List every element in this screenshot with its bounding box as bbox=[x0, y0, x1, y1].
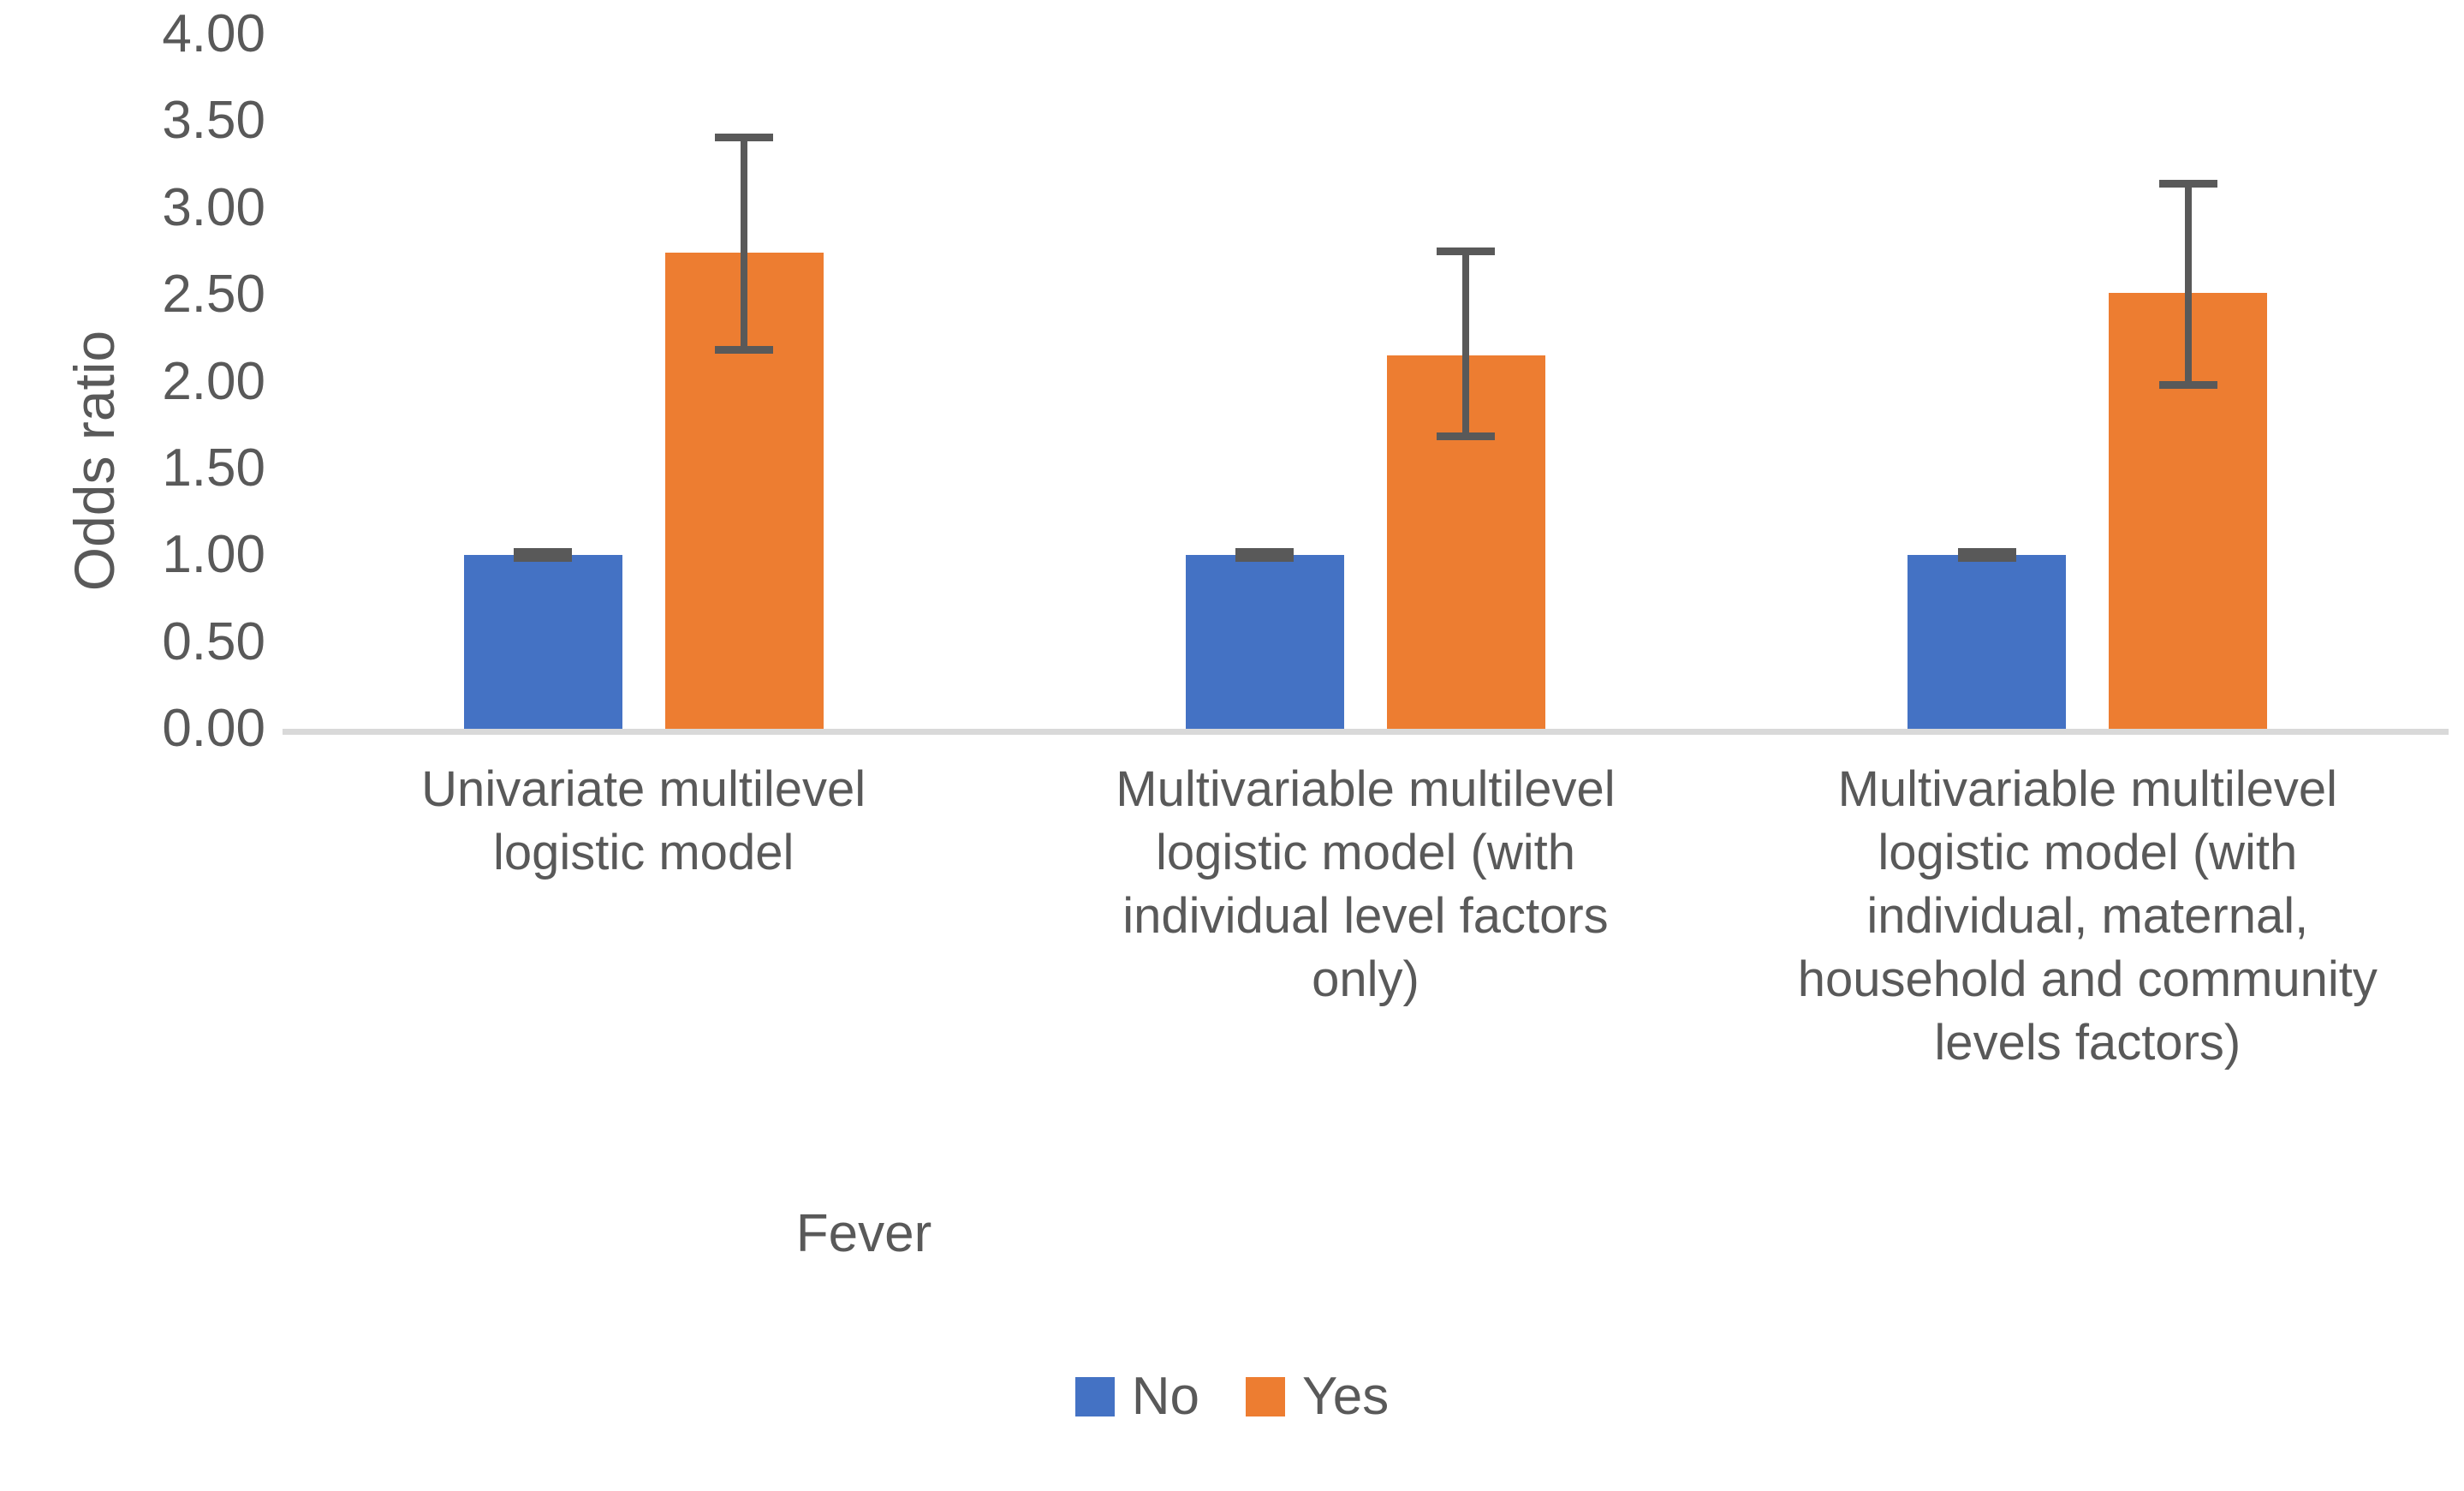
y-axis-tick-label: 1.50 bbox=[0, 442, 265, 495]
category-label-line: logistic model (with bbox=[1004, 821, 1726, 885]
category-label-line: levels factors) bbox=[1727, 1011, 2449, 1075]
category-label-line: individual level factors bbox=[1004, 885, 1726, 948]
bar-no bbox=[1186, 555, 1344, 729]
error-bar-cap-lower bbox=[1958, 554, 2016, 562]
legend-item[interactable]: No bbox=[1075, 1370, 1199, 1423]
plot-area bbox=[283, 34, 2449, 729]
x-axis-category-label: Multivariable multilevellogistic model (… bbox=[1727, 758, 2449, 1075]
category-label-line: individual, maternal, bbox=[1727, 885, 2449, 948]
error-bar-cap-upper bbox=[2159, 180, 2217, 188]
x-axis-category-label: Multivariable multilevellogistic model (… bbox=[1004, 758, 1726, 1011]
bar-group bbox=[283, 34, 1004, 729]
y-axis-tick-label: 0.50 bbox=[0, 616, 265, 669]
x-axis-line bbox=[283, 729, 2449, 735]
error-bar-cap-lower bbox=[715, 346, 773, 354]
y-axis-tick-label: 2.50 bbox=[0, 268, 265, 321]
y-axis-tick-label: 1.00 bbox=[0, 528, 265, 581]
y-axis-tick-label: 4.00 bbox=[0, 8, 265, 61]
y-axis-tick-label: 3.00 bbox=[0, 182, 265, 235]
bar-no bbox=[464, 555, 622, 729]
bar-chart: Odds ratio 4.003.503.002.502.001.501.000… bbox=[0, 0, 2464, 1491]
category-label-line: Univariate multilevel bbox=[283, 758, 1004, 821]
error-bar-cap-upper bbox=[715, 134, 773, 141]
error-bar-stem bbox=[1462, 251, 1469, 437]
bar-group bbox=[1727, 34, 2449, 729]
x-axis-title-text: Fever bbox=[796, 1204, 931, 1263]
y-axis-tick-label: 3.50 bbox=[0, 94, 265, 147]
error-bar-cap-lower bbox=[1235, 554, 1294, 562]
legend-label: No bbox=[1132, 1370, 1199, 1423]
y-axis-tick-label: 0.00 bbox=[0, 702, 265, 755]
legend-swatch-yes bbox=[1246, 1377, 1285, 1416]
y-axis-tick-labels: 4.003.503.002.502.001.501.000.500.00 bbox=[0, 0, 265, 771]
error-bar-cap-lower bbox=[2159, 381, 2217, 389]
error-bar-cap-lower bbox=[514, 554, 572, 562]
x-axis-category-label: Univariate multilevellogistic model bbox=[283, 758, 1004, 885]
y-axis-tick-label: 2.00 bbox=[0, 355, 265, 409]
bar-no bbox=[1908, 555, 2066, 729]
category-label-line: logistic model (with bbox=[1727, 821, 2449, 885]
legend-label: Yes bbox=[1302, 1370, 1389, 1423]
category-label-line: Multivariable multilevel bbox=[1727, 758, 2449, 821]
category-label-line: logistic model bbox=[283, 821, 1004, 885]
legend-swatch-no bbox=[1075, 1377, 1115, 1416]
error-bar-stem bbox=[2185, 183, 2192, 385]
legend-item[interactable]: Yes bbox=[1246, 1370, 1389, 1423]
category-label-line: Multivariable multilevel bbox=[1004, 758, 1726, 821]
category-label-line: only) bbox=[1004, 948, 1726, 1011]
x-axis-title: Fever bbox=[0, 1203, 2464, 1264]
category-label-line: household and community bbox=[1727, 948, 2449, 1011]
error-bar-cap-upper bbox=[1437, 248, 1495, 255]
legend: NoYes bbox=[0, 1370, 2464, 1423]
error-bar-stem bbox=[741, 137, 747, 350]
bar-group bbox=[1004, 34, 1726, 729]
error-bar-cap-lower bbox=[1437, 432, 1495, 440]
x-axis-category-labels: Univariate multilevellogistic modelMulti… bbox=[283, 758, 2449, 1203]
